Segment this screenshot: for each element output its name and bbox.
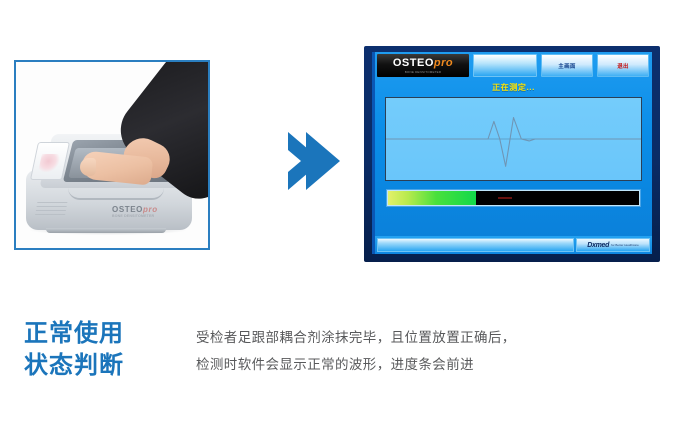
- app-brand-sub: BONE DENSITOMETER: [405, 70, 442, 74]
- patient-toes: [80, 158, 96, 176]
- app-brand-pro: pro: [434, 57, 453, 69]
- device-vents: [35, 202, 68, 218]
- device-brand-main: OSTEO: [112, 205, 143, 214]
- main-screen-button[interactable]: 主画面: [541, 54, 593, 77]
- progress-bar-track: [387, 190, 640, 206]
- progress-bar-fill: [388, 191, 476, 205]
- progress-area: [375, 181, 652, 206]
- waveform-area: [375, 97, 652, 181]
- app-brand-logo: OSTEOpro BONE DENSITOMETER: [377, 54, 469, 77]
- device-base-front: [46, 228, 166, 233]
- device-brand-pro: pro: [143, 205, 158, 214]
- device-handle: [68, 188, 164, 200]
- device-panel-graphic: [38, 154, 62, 172]
- title-bar-filler: [473, 54, 537, 77]
- device-photo: OSTEOpro BONE DENSITOMETER: [16, 62, 208, 248]
- progress-bar-marker: [498, 197, 512, 199]
- device-photo-frame: OSTEOpro BONE DENSITOMETER: [14, 60, 210, 250]
- app-brand-main: OSTEO: [393, 57, 434, 69]
- caption-body-line1: 受检者足跟部耦合剂涂抹完毕，且位置放置正确后，: [196, 324, 646, 351]
- vendor-logo-sub: for Better Healthcare: [611, 243, 639, 247]
- vendor-logo-main: Dxmed: [587, 242, 609, 249]
- slide-root: OSTEOpro BONE DENSITOMETER OSTEOpro BONE…: [0, 0, 673, 441]
- waveform-display: [385, 97, 642, 181]
- device-brand-logo: OSTEOpro BONE DENSITOMETER: [112, 205, 158, 218]
- measurement-status-text: 正在测定...: [375, 77, 652, 97]
- caption-headline-line2: 状态判断: [24, 350, 184, 382]
- software-screen-bezel: OSTEOpro BONE DENSITOMETER 主画面 退出 正在测定..…: [364, 46, 660, 262]
- footer-bar: Dxmed for Better Healthcare: [375, 236, 652, 254]
- caption-headline-line1: 正常使用: [24, 318, 184, 350]
- exit-button[interactable]: 退出: [597, 54, 649, 77]
- vendor-logo: Dxmed for Better Healthcare: [576, 238, 650, 252]
- software-window: OSTEOpro BONE DENSITOMETER 主画面 退出 正在测定..…: [372, 52, 652, 254]
- caption-headline: 正常使用 状态判断: [24, 318, 184, 381]
- device-brand-sub: BONE DENSITOMETER: [112, 214, 158, 218]
- footer-filler: [377, 238, 574, 252]
- chevron-right-icon: [282, 128, 342, 194]
- title-bar: OSTEOpro BONE DENSITOMETER 主画面 退出: [375, 52, 652, 77]
- caption-body: 受检者足跟部耦合剂涂抹完毕，且位置放置正确后， 检测时软件会显示正常的波形，进度…: [196, 324, 646, 378]
- caption-body-line2: 检测时软件会显示正常的波形，进度条会前进: [196, 351, 646, 378]
- app-brand-text: OSTEOpro: [393, 58, 453, 69]
